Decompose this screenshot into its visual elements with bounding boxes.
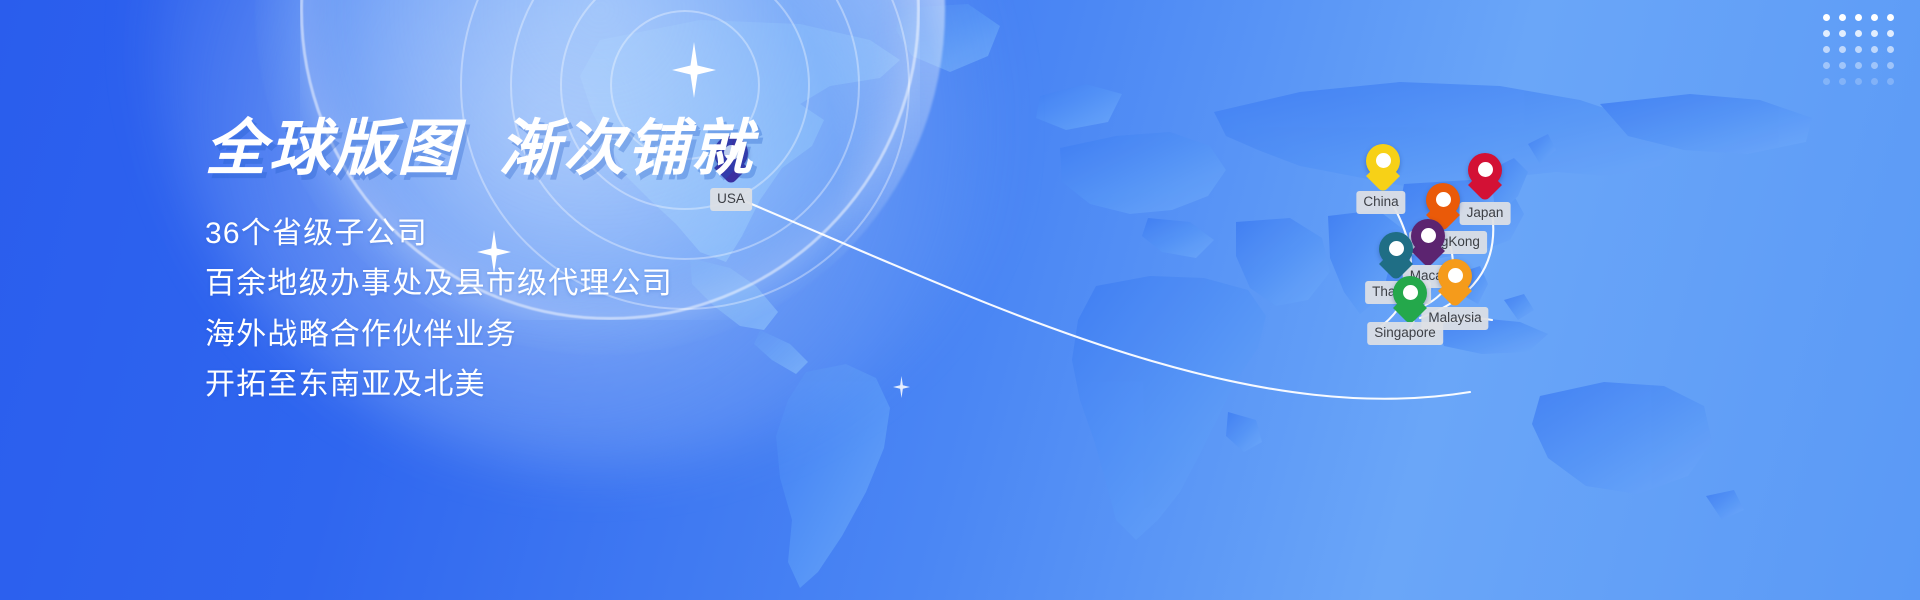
pin-dot: [1436, 192, 1451, 207]
map-pin-malaysia[interactable]: [1438, 259, 1472, 305]
pin-dot: [1421, 228, 1436, 243]
bullet-line-3: 海外战略合作伙伴业务: [205, 314, 925, 355]
map-pin-label-japan: Japan: [1460, 202, 1511, 225]
bullet-list: 36个省级子公司 百余地级办事处及县市级代理公司 海外战略合作伙伴业务 开拓至东…: [205, 213, 925, 406]
pin-dot: [1389, 241, 1404, 256]
pin-dot: [1376, 153, 1391, 168]
headline-part-right: 渐次铺就: [499, 114, 755, 182]
bullet-line-1: 36个省级子公司: [205, 213, 925, 254]
pin-dot: [1448, 268, 1463, 283]
pin-dot: [1478, 162, 1493, 177]
dot-grid-decoration: [1818, 10, 1898, 90]
map-pin-thailand[interactable]: [1379, 232, 1413, 278]
bullet-line-2: 百余地级办事处及县市级代理公司: [205, 263, 925, 304]
pin-dot: [1403, 285, 1418, 300]
map-pin-japan[interactable]: [1468, 153, 1502, 199]
global-footprint-banner: USA China Japan HongKong Macao Thailand: [0, 0, 1920, 600]
map-pin-singapore[interactable]: [1393, 276, 1427, 322]
headline-part-left: 全球版图: [205, 114, 461, 182]
banner-copy: 全球版图渐次铺就 36个省级子公司 百余地级办事处及县市级代理公司 海外战略合作…: [205, 118, 925, 406]
map-pin-label-china: China: [1356, 191, 1405, 214]
map-pin-china[interactable]: [1366, 144, 1400, 190]
page-title: 全球版图渐次铺就: [205, 118, 925, 179]
bullet-line-4: 开拓至东南亚及北美: [205, 364, 925, 405]
map-pin-label-singapore: Singapore: [1367, 322, 1443, 345]
